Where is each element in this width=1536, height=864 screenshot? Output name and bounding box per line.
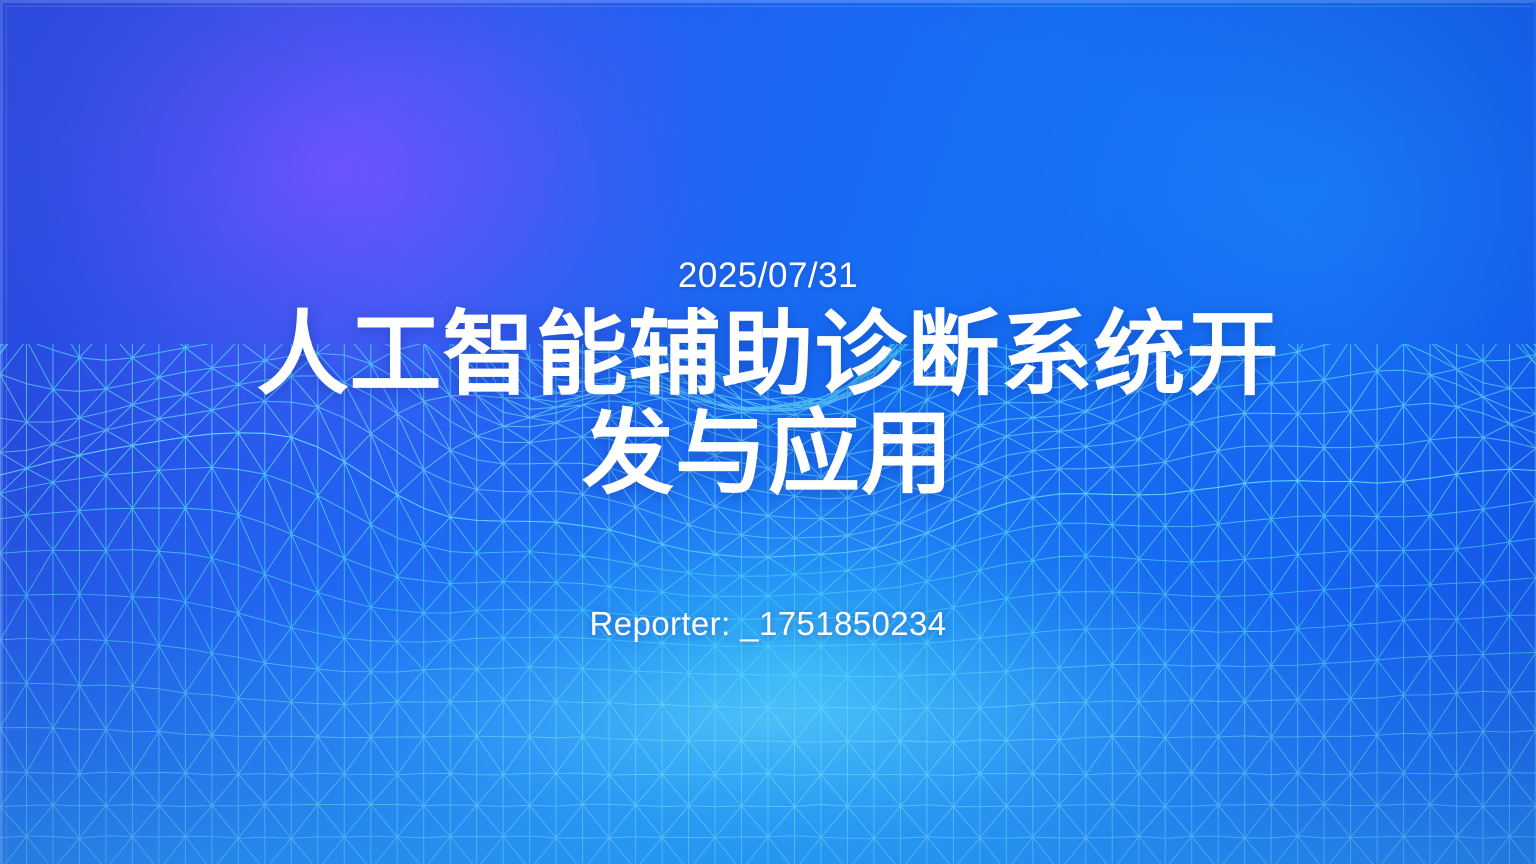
slide-content: 2025/07/31 人工智能辅助诊断系统开发与应用 Reporter: _17…: [0, 0, 1536, 864]
slide-date: 2025/07/31: [678, 258, 858, 293]
slide-title: 人工智能辅助诊断系统开发与应用: [223, 305, 1313, 504]
slide-reporter: Reporter: _1751850234: [589, 607, 946, 640]
presentation-title-slide: 2025/07/31 人工智能辅助诊断系统开发与应用 Reporter: _17…: [0, 0, 1536, 864]
